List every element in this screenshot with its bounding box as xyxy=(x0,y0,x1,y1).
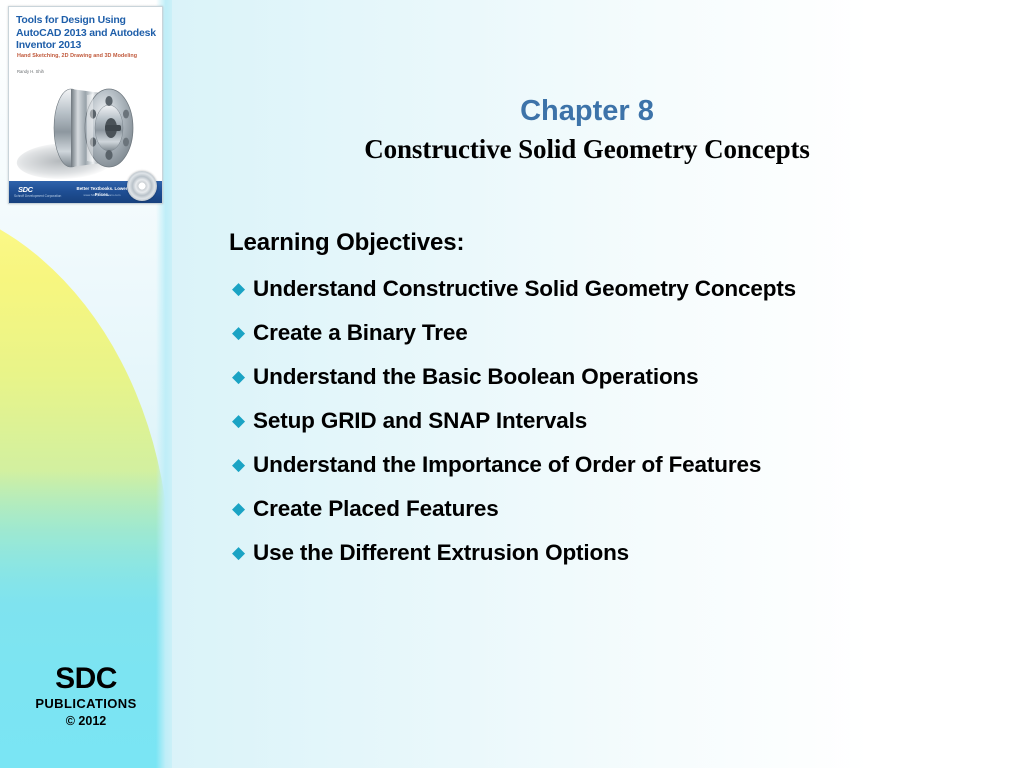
learning-objectives-list: ◆Understand Constructive Solid Geometry … xyxy=(229,269,1009,577)
book-cover-title: Tools for Design Using AutoCAD 2013 and … xyxy=(16,14,158,52)
book-cover-publisher-url: www.SDCpublications.com xyxy=(71,193,133,197)
objective-list-item: ◆Setup GRID and SNAP Intervals xyxy=(229,401,1009,441)
slide-sidebar: Tools for Design Using AutoCAD 2013 and … xyxy=(0,0,172,768)
objective-list-item-label: Understand the Importance of Order of Fe… xyxy=(253,445,1009,485)
cd-disc-icon xyxy=(127,171,157,201)
sdc-copyright-text: © 2012 xyxy=(0,713,172,730)
objective-list-item: ◆Create a Binary Tree xyxy=(229,313,1009,353)
chapter-subtitle: Constructive Solid Geometry Concepts xyxy=(172,130,1002,168)
diamond-bullet-icon: ◆ xyxy=(229,357,253,397)
diamond-bullet-icon: ◆ xyxy=(229,489,253,529)
sdc-publications-text: PUBLICATIONS xyxy=(0,695,172,713)
sdc-footer: SDC PUBLICATIONS © 2012 xyxy=(0,663,172,730)
objective-list-item-label: Understand the Basic Boolean Operations xyxy=(253,357,1009,397)
slide-main-content: Chapter 8 Constructive Solid Geometry Co… xyxy=(172,0,1024,768)
slide-title-block: Chapter 8 Constructive Solid Geometry Co… xyxy=(172,92,1002,168)
objective-list-item: ◆Understand the Basic Boolean Operations xyxy=(229,357,1009,397)
presentation-slide: Tools for Design Using AutoCAD 2013 and … xyxy=(0,0,1024,768)
sdc-logo-text: SDC xyxy=(0,663,172,695)
book-cover-subtitle: Hand Sketching, 2D Drawing and 3D Modeli… xyxy=(17,53,157,60)
machine-part-illustration-icon xyxy=(31,81,149,173)
book-cover-author: Randy H. Shih xyxy=(17,69,137,75)
diamond-bullet-icon: ◆ xyxy=(229,269,253,309)
learning-objectives-heading: Learning Objectives: xyxy=(229,229,464,257)
objective-list-item-label: Create a Binary Tree xyxy=(253,313,1009,353)
objective-list-item: ◆Create Placed Features xyxy=(229,489,1009,529)
objective-list-item: ◆Use the Different Extrusion Options xyxy=(229,533,1009,573)
objective-list-item: ◆Understand the Importance of Order of F… xyxy=(229,445,1009,485)
book-cover-image: Tools for Design Using AutoCAD 2013 and … xyxy=(8,6,163,204)
objective-list-item-label: Setup GRID and SNAP Intervals xyxy=(253,401,1009,441)
objective-list-item-label: Understand Constructive Solid Geometry C… xyxy=(253,269,1009,309)
diamond-bullet-icon: ◆ xyxy=(229,313,253,353)
book-cover-sdc-logo: SDC xyxy=(18,185,33,194)
chapter-title: Chapter 8 xyxy=(172,92,1002,130)
diamond-bullet-icon: ◆ xyxy=(229,445,253,485)
diamond-bullet-icon: ◆ xyxy=(229,533,253,573)
objective-list-item-label: Use the Different Extrusion Options xyxy=(253,533,1009,573)
objective-list-item-label: Create Placed Features xyxy=(253,489,1009,529)
objective-list-item: ◆Understand Constructive Solid Geometry … xyxy=(229,269,1009,309)
diamond-bullet-icon: ◆ xyxy=(229,401,253,441)
